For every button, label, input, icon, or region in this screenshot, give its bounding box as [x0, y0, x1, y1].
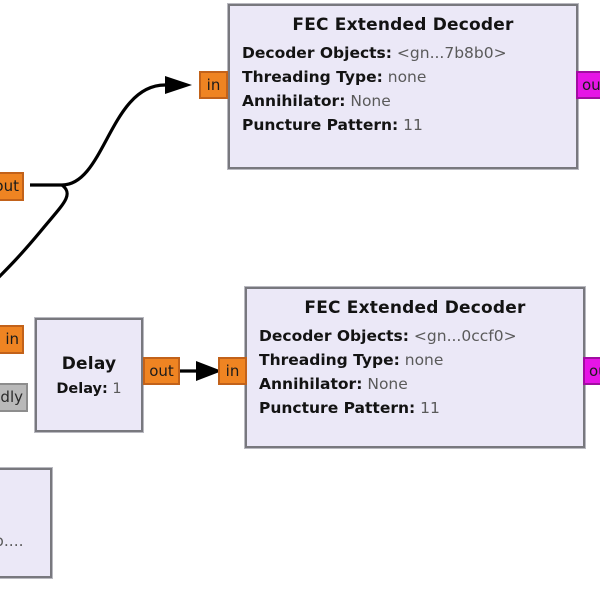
port-in-decoder-top[interactable]: in	[199, 71, 228, 99]
param-annihilator: Annihilator: None	[242, 89, 564, 113]
block-fec-extended-decoder-bottom[interactable]: FEC Extended Decoder Decoder Objects: <g…	[245, 287, 585, 448]
port-label: out	[582, 78, 600, 93]
param-puncture-pattern: Puncture Pattern: 11	[242, 113, 564, 137]
param-value: <gn...0ccf0>	[414, 327, 517, 345]
param-label: Annihilator:	[259, 375, 362, 393]
port-out-left-edge[interactable]: out	[0, 172, 24, 201]
param-value: 1	[112, 381, 121, 397]
port-label: in	[5, 332, 19, 347]
param-label: Puncture Pattern:	[242, 116, 398, 134]
param-label: Annihilator:	[242, 92, 345, 110]
port-in-decoder-bottom[interactable]: in	[218, 357, 247, 385]
param-label: Puncture Pattern:	[259, 399, 415, 417]
wire-out-to-decoder-top	[30, 85, 165, 185]
block-title: FEC Extended Decoder	[242, 15, 564, 35]
param-label: Delay:	[56, 381, 107, 397]
port-label: out	[149, 364, 174, 379]
block-fec-extended-decoder-top[interactable]: FEC Extended Decoder Decoder Objects: <g…	[228, 4, 578, 169]
port-label: out	[0, 179, 19, 194]
port-out-decoder-top[interactable]: out	[576, 71, 600, 99]
param-value: none	[388, 68, 427, 86]
param-value: <gn...7b8b0>	[397, 44, 507, 62]
param-label: Threading Type:	[242, 68, 383, 86]
param-label: Decoder Objects:	[242, 44, 392, 62]
port-out-delay[interactable]: out	[143, 357, 180, 385]
param-decoder-objects: Decoder Objects: <gn...0ccf0>	[259, 324, 571, 348]
arrowhead-decoder-top-in	[165, 76, 192, 94]
param-threading-type: Threading Type: none	[242, 65, 564, 89]
port-label: in	[207, 78, 221, 93]
param-delay: Delay: 1	[56, 381, 121, 397]
port-dly-message-left-edge[interactable]: dly	[0, 383, 28, 412]
flowgraph-canvas[interactable]: FEC Extended Decoder Decoder Objects: <g…	[0, 0, 600, 600]
param-value: 11	[420, 399, 440, 417]
port-label: dly	[0, 390, 23, 405]
param-label: Threading Type:	[259, 351, 400, 369]
block-title: Delay	[62, 354, 117, 374]
param-value: None	[350, 92, 390, 110]
param-value: none	[405, 351, 444, 369]
port-label: out	[589, 364, 600, 379]
block-delay[interactable]: Delay Delay: 1	[35, 318, 143, 432]
port-out-decoder-bottom[interactable]: out	[583, 357, 600, 385]
port-label: in	[226, 364, 240, 379]
param-threading-type: Threading Type: none	[259, 348, 571, 372]
param-decoder-objects: Decoder Objects: <gn...7b8b0>	[242, 41, 564, 65]
block-partial-bottom-left[interactable]: p....	[0, 468, 52, 578]
partial-block-text: p....	[0, 532, 24, 550]
param-value: 11	[403, 116, 423, 134]
param-value: None	[367, 375, 407, 393]
port-in-left-edge[interactable]: in	[0, 325, 24, 354]
param-label: Decoder Objects:	[259, 327, 409, 345]
param-annihilator: Annihilator: None	[259, 372, 571, 396]
param-puncture-pattern: Puncture Pattern: 11	[259, 396, 571, 420]
block-title: FEC Extended Decoder	[259, 298, 571, 318]
